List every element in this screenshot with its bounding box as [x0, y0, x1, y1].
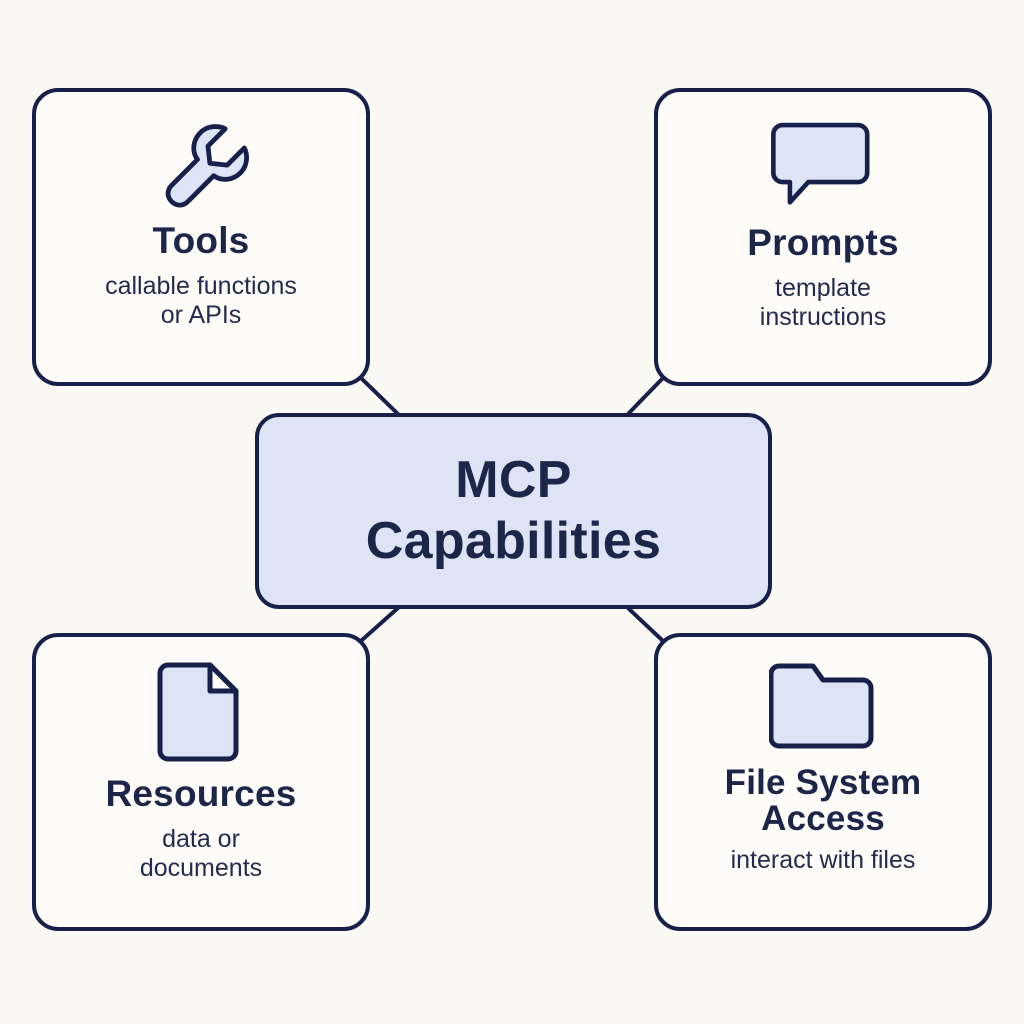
card-subtitle-line1: callable functions: [51, 272, 351, 301]
capability-card-file-system-access[interactable]: File System Access interact with files: [654, 633, 992, 931]
center-node-title: MCP Capabilities: [366, 450, 661, 573]
card-title-line1: File System: [673, 765, 973, 801]
card-subtitle-line1: data or: [56, 825, 346, 854]
card-title-line2: Access: [673, 801, 973, 837]
capability-card-tools[interactable]: Tools callable functions or APIs: [32, 88, 370, 386]
center-node-title-line2: Capabilities: [366, 511, 661, 572]
wrench-icon: [149, 110, 253, 214]
card-subtitle-line2: or APIs: [51, 301, 351, 330]
document-icon: [156, 659, 246, 763]
card-subtitle: callable functions or APIs: [51, 272, 351, 329]
speech-bubble-icon: [768, 114, 878, 214]
card-subtitle-line2: instructions: [678, 303, 968, 332]
document-icon-container: [156, 659, 246, 763]
folder-icon: [769, 658, 877, 754]
card-subtitle-line2: documents: [56, 854, 346, 883]
connector-tools-to-center: [362, 379, 398, 414]
capability-card-prompts[interactable]: Prompts template instructions: [654, 88, 992, 386]
card-subtitle: template instructions: [678, 274, 968, 331]
card-title: Prompts: [747, 224, 898, 262]
folder-icon-container: [769, 657, 877, 755]
card-subtitle: interact with files: [668, 846, 978, 875]
card-title: Tools: [153, 222, 250, 260]
card-subtitle-line1: template: [678, 274, 968, 303]
wrench-icon-container: [149, 110, 253, 214]
connector-prompts-to-center: [628, 379, 662, 414]
connector-filesystem-to-center: [628, 608, 662, 640]
speech-bubble-icon-container: [768, 114, 878, 214]
card-subtitle: data or documents: [56, 825, 346, 882]
capability-card-resources[interactable]: Resources data or documents: [32, 633, 370, 931]
center-node-mcp-capabilities[interactable]: MCP Capabilities: [255, 413, 772, 609]
connector-resources-to-center: [362, 608, 398, 640]
card-subtitle-line1: interact with files: [668, 846, 978, 875]
center-node-title-line1: MCP: [366, 450, 661, 511]
mcp-capabilities-diagram: Tools callable functions or APIs Prompts…: [0, 0, 1024, 1024]
card-title: File System Access: [673, 765, 973, 838]
card-title: Resources: [105, 775, 296, 813]
